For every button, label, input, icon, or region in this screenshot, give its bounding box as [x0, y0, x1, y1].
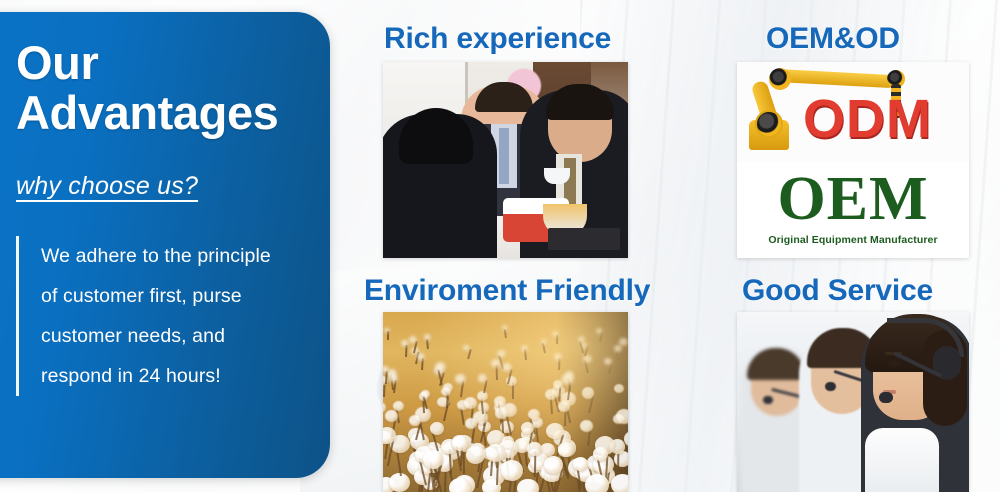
oem-caption: Original Equipment Manufacturer: [743, 234, 963, 246]
odm-wordmark: ODM: [803, 88, 932, 150]
meeting-person-center-tie: [499, 128, 509, 184]
agent-two-mic: [825, 382, 836, 391]
heading-oem-odm: OEM&OD: [766, 22, 900, 56]
odm-band: ODM: [737, 62, 969, 162]
panel-title-line-2: Advantages: [16, 88, 306, 138]
advantages-banner: Our Advantages why choose us? We adhere …: [0, 0, 1000, 492]
heading-rich-experience: Rich experience: [384, 22, 611, 56]
panel-body-text: We adhere to the principle of customer f…: [41, 236, 281, 397]
photo-business-meeting: [383, 62, 628, 258]
meeting-cup: [544, 168, 570, 184]
agent-one-eye: [887, 360, 900, 367]
meeting-folder: [548, 228, 620, 250]
advantages-panel: Our Advantages why choose us? We adhere …: [0, 12, 330, 478]
cotton-field-sun-glow: [383, 312, 628, 492]
robot-elbow-joint: [769, 68, 791, 90]
heading-good-service: Good Service: [742, 274, 933, 308]
vertical-rule-accent: [16, 236, 19, 397]
panel-title-line-1: Our: [16, 38, 306, 88]
page-title: Our Advantages: [16, 38, 306, 138]
agent-three-mic: [763, 396, 773, 404]
panel-body-block: We adhere to the principle of customer f…: [16, 236, 306, 397]
oem-wordmark: OEM: [743, 168, 963, 230]
photo-cotton-field: [383, 312, 628, 492]
meeting-scene: [383, 62, 628, 258]
photo-oem-odm-logo: ODM OEM Original Equipment Manufacturer: [737, 62, 969, 258]
panel-subtitle: why choose us?: [16, 172, 306, 201]
agent-one-mic: [879, 392, 893, 403]
heading-enviroment-friendly: Enviroment Friendly: [364, 274, 650, 308]
agent-one-shirt: [865, 428, 939, 492]
robot-arm-upper: [773, 69, 896, 88]
robot-shoulder-joint: [755, 110, 783, 138]
photo-call-centre: [737, 312, 969, 492]
oem-band: OEM Original Equipment Manufacturer: [743, 162, 963, 258]
